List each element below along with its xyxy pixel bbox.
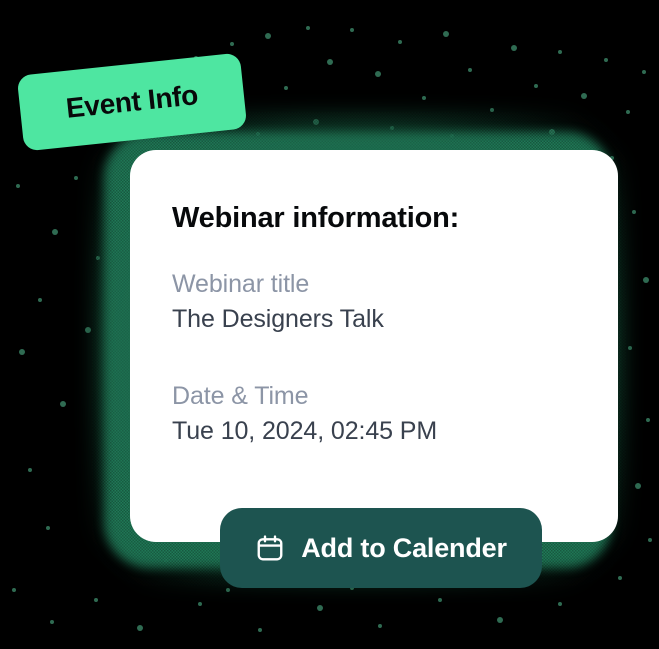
particle-dot (19, 349, 25, 355)
particle-dot (317, 605, 323, 611)
particle-dot (635, 483, 641, 489)
particle-dot (94, 598, 98, 602)
particle-dot (643, 277, 649, 283)
particle-dot (511, 45, 517, 51)
particle-dot (378, 624, 382, 628)
particle-dot (443, 31, 449, 37)
event-info-badge-label: Event Info (65, 79, 200, 125)
particle-dot (327, 59, 333, 65)
particle-dot (534, 84, 538, 88)
particle-dot (375, 71, 381, 77)
particle-dot (642, 70, 646, 74)
particle-dot (497, 617, 503, 623)
particle-dot (258, 628, 262, 632)
field-label: Date & Time (172, 382, 437, 411)
particle-dot (198, 602, 202, 606)
webinar-info-card: Webinar information: Webinar title The D… (130, 150, 618, 542)
particle-dot (50, 620, 54, 624)
particle-dot (646, 418, 650, 422)
field-value: The Designers Talk (172, 305, 384, 334)
particle-dot (284, 86, 288, 90)
add-to-calendar-button[interactable]: Add to Calender (220, 508, 542, 588)
particle-dot (74, 176, 78, 180)
particle-dot (38, 298, 42, 302)
calendar-icon (255, 533, 285, 563)
add-to-calendar-label: Add to Calender (301, 533, 507, 564)
particle-dot (85, 327, 91, 333)
particle-dot (46, 526, 50, 530)
particle-dot (306, 26, 310, 30)
particle-dot (558, 50, 562, 54)
particle-dot (581, 93, 587, 99)
particle-dot (438, 598, 442, 602)
particle-dot (12, 588, 16, 592)
particle-dot (628, 346, 632, 350)
particle-dot (226, 588, 230, 592)
particle-dot (558, 602, 562, 606)
field-label: Webinar title (172, 270, 384, 299)
particle-dot (230, 42, 234, 46)
page-title: Webinar information: (172, 202, 459, 235)
particle-dot (648, 538, 652, 542)
field-date-time: Date & Time Tue 10, 2024, 02:45 PM (172, 382, 437, 446)
particle-dot (618, 576, 622, 580)
poster-canvas: Webinar information: Webinar title The D… (0, 0, 659, 649)
particle-dot (137, 625, 143, 631)
particle-dot (468, 68, 472, 72)
field-webinar-title: Webinar title The Designers Talk (172, 270, 384, 334)
field-value: Tue 10, 2024, 02:45 PM (172, 417, 437, 446)
particle-dot (350, 28, 354, 32)
particle-dot (604, 58, 608, 62)
particle-dot (398, 40, 402, 44)
particle-dot (422, 96, 426, 100)
particle-dot (60, 401, 66, 407)
particle-dot (28, 468, 32, 472)
particle-dot (626, 110, 630, 114)
particle-dot (16, 184, 20, 188)
particle-dot (632, 210, 636, 214)
particle-dot (265, 33, 271, 39)
particle-dot (52, 229, 58, 235)
